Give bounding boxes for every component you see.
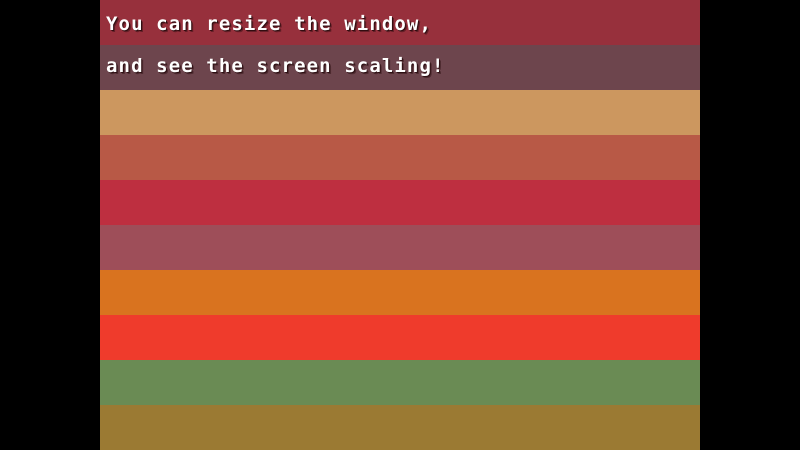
letterbox-bar-right xyxy=(700,0,800,450)
color-band xyxy=(100,135,700,180)
color-band xyxy=(100,45,700,90)
color-band-stack xyxy=(100,0,700,450)
scaled-game-surface[interactable] xyxy=(100,0,700,450)
color-band xyxy=(100,225,700,270)
letterbox-bar-left xyxy=(0,0,100,450)
color-band xyxy=(100,90,700,135)
color-band xyxy=(100,180,700,225)
color-band xyxy=(100,315,700,360)
app-window: You can resize the window, and see the s… xyxy=(0,0,800,450)
color-band xyxy=(100,405,700,450)
color-band xyxy=(100,360,700,405)
color-band xyxy=(100,0,700,45)
color-band xyxy=(100,270,700,315)
